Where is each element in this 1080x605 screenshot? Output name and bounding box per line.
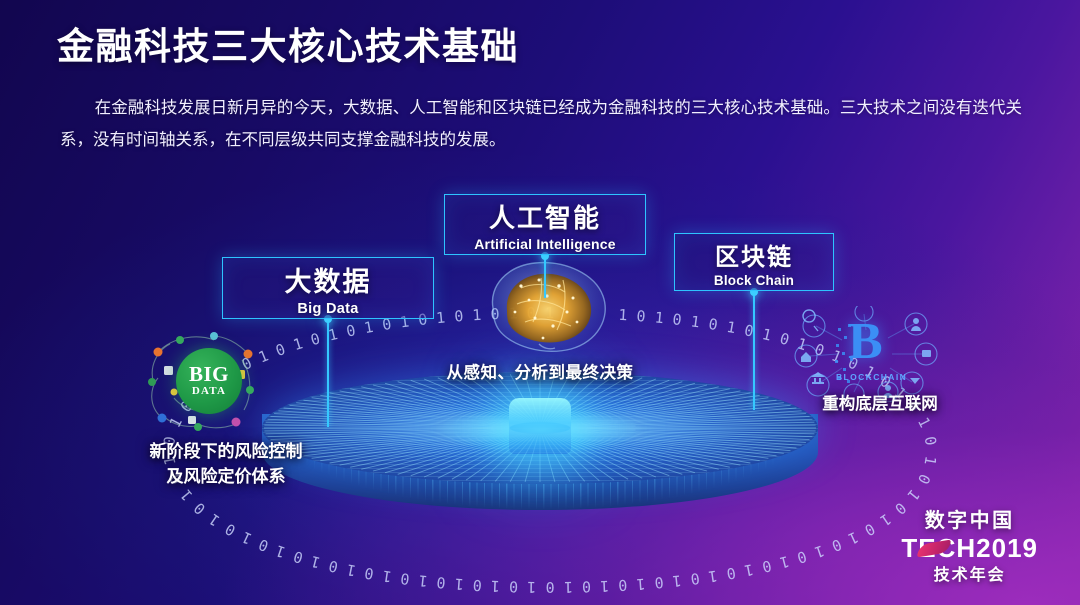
caption-bigdata-line1: 新阶段下的风险控制 [96, 440, 356, 465]
logo-line-3: 技术年会 [901, 561, 1038, 585]
blockchain-b-icon: B BLOCKCHAIN [792, 306, 942, 402]
big-data-badge-primary: BIG [189, 365, 229, 385]
blockchain-b-letter: B [848, 316, 883, 368]
label-ai-en: Artificial Intelligence [474, 236, 616, 252]
brain-svg [477, 252, 617, 360]
brain-icon [477, 252, 617, 360]
caption-bigdata: 新阶段下的风险控制 及风险定价体系 [96, 440, 356, 489]
connector-line-bigdata [327, 319, 329, 427]
slide-canvas: 1 0 1 0 1 0 1 0 1 0 1 0 1 0 1 0 1 0 1 0 … [0, 0, 1080, 605]
big-data-badge: BIG DATA [176, 348, 242, 414]
label-box-bigdata[interactable]: 大数据 Big Data [222, 257, 434, 319]
label-ai-cn: 人工智能 [489, 198, 601, 235]
label-box-blockchain[interactable]: 区块链 Block Chain [674, 233, 834, 291]
connector-line-ai [544, 256, 546, 298]
caption-bigdata-line2: 及风险定价体系 [96, 465, 356, 490]
blockchain-wordmark: BLOCKCHAIN [836, 372, 907, 382]
connector-line-blockchain [753, 292, 755, 410]
big-data-network-icon: BIG DATA [140, 326, 272, 438]
disc-core-glow [509, 398, 571, 454]
slide-paragraph: 在金融科技发展日新月异的今天，大数据、人工智能和区块链已经成为金融科技的三大核心… [60, 92, 1022, 156]
caption-ai: 从感知、分析到最终决策 [400, 362, 680, 386]
label-bigdata-cn: 大数据 [285, 260, 372, 299]
label-bigdata-en: Big Data [297, 301, 358, 317]
event-logo: 数字中国 TECH2019 技术年会 [901, 504, 1038, 585]
logo-line-2: TECH2019 [901, 535, 1038, 562]
caption-blockchain: 重构底层互联网 [790, 393, 970, 417]
label-blockchain-cn: 区块链 [715, 237, 793, 272]
label-blockchain-en: Block Chain [714, 273, 794, 288]
big-data-badge-secondary: DATA [192, 385, 226, 397]
label-box-ai[interactable]: 人工智能 Artificial Intelligence [444, 194, 646, 255]
slide-title: 金融科技三大核心技术基础 [57, 16, 519, 70]
logo-line-1: 数字中国 [901, 504, 1038, 533]
